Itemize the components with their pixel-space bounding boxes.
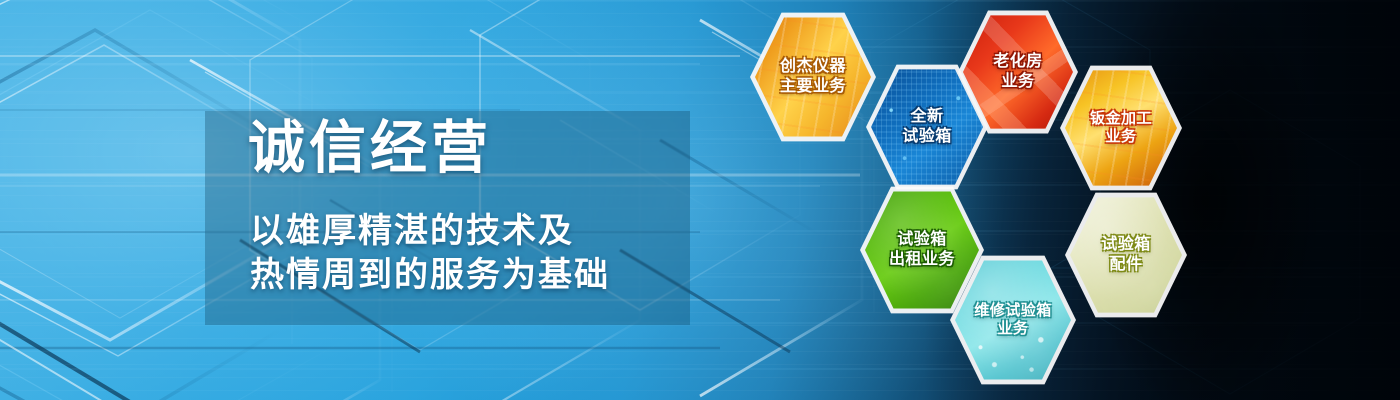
hex-label-new-test-chamber: 全新 试验箱 — [902, 107, 952, 146]
hex-label-sheet-metal-business: 钣金加工 业务 — [1090, 110, 1152, 147]
business-hexagon-cluster: 创杰仪器 主要业务 全新 试验箱 老化房 业务 钣金加工 业务 试验箱 出租业务 — [0, 0, 1400, 400]
promo-banner: 诚信经营 以雄厚精湛的技术及 热情周到的服务为基础 创杰仪器 主要业务 全新 试… — [0, 0, 1400, 400]
hex-label-chamber-accessories: 试验箱 配件 — [1101, 235, 1151, 274]
hex-label-main-business: 创杰仪器 主要业务 — [780, 57, 846, 96]
hex-label-chamber-repair-business: 维修试验箱 业务 — [974, 302, 1052, 339]
hex-label-aging-room-business: 老化房 业务 — [993, 52, 1043, 91]
hex-label-chamber-rental-business: 试验箱 出租业务 — [889, 230, 955, 269]
